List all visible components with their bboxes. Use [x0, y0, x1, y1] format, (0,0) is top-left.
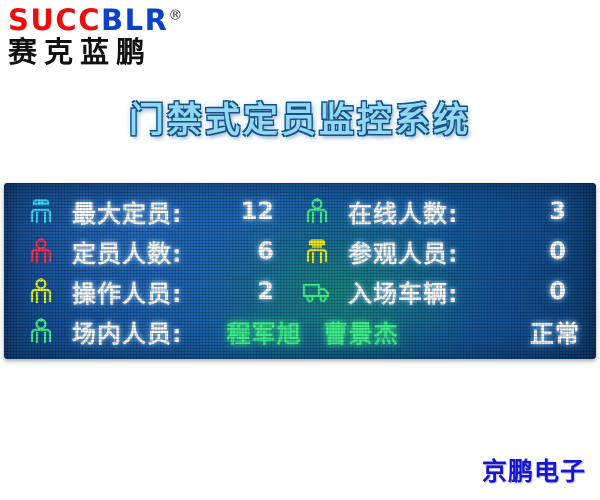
- person-icon: [302, 196, 332, 226]
- led-label: 操作人员:: [72, 274, 183, 309]
- truck-icon: [302, 276, 332, 306]
- status-badge: 正常: [530, 314, 580, 349]
- led-label: 定员人数:: [72, 234, 183, 269]
- led-row-operators: 操作人员: 2: [26, 271, 288, 311]
- led-label: 入场车辆:: [348, 274, 459, 309]
- led-value: 0: [549, 237, 580, 265]
- page-title: 门禁式定员监控系统: [0, 92, 600, 143]
- onsite-names-list: 程军旭曹景杰: [227, 314, 399, 349]
- footer-brand: 京鹏电子: [482, 452, 586, 488]
- led-row-onsite-personnel: 场内人员: 程军旭曹景杰 正常: [26, 311, 580, 351]
- led-label: 在线人数:: [348, 194, 459, 229]
- led-row-visitors: 参观人员: 0: [302, 231, 580, 271]
- led-value: 0: [549, 277, 580, 305]
- led-value: 6: [257, 237, 288, 265]
- registered-trademark-icon: ®: [168, 7, 182, 23]
- led-label: 参观人员:: [348, 234, 459, 269]
- led-value: 3: [549, 197, 580, 225]
- brand-wordmark: SUCCBLR®: [8, 6, 238, 35]
- led-display-panel: 最大定员: 12 定员人数: 6: [4, 183, 596, 359]
- person-hardhat-icon: [302, 236, 332, 266]
- brand-chinese-name: 赛克蓝鹏: [8, 37, 238, 67]
- led-label: 最大定员:: [72, 194, 183, 229]
- person-icon: [26, 276, 56, 306]
- wordmark-succ: SUCC: [8, 3, 101, 37]
- person-icon: [26, 316, 56, 346]
- led-value: 2: [257, 277, 288, 305]
- onsite-name: 程军旭: [227, 320, 302, 348]
- led-label: 场内人员:: [72, 314, 183, 349]
- wordmark-blr: BLR: [101, 3, 168, 37]
- led-row-registered-capacity: 定员人数: 6: [26, 231, 288, 271]
- led-row-online-count: 在线人数: 3: [302, 191, 580, 231]
- led-row-vehicles: 入场车辆: 0: [302, 271, 580, 311]
- person-icon: [26, 236, 56, 266]
- brand-logo: SUCCBLR® 赛克蓝鹏: [8, 6, 238, 67]
- onsite-name: 曹景杰: [324, 320, 399, 348]
- led-row-max-capacity: 最大定员: 12: [26, 191, 288, 231]
- person-hardhat-icon: [26, 196, 56, 226]
- led-value: 12: [241, 197, 288, 225]
